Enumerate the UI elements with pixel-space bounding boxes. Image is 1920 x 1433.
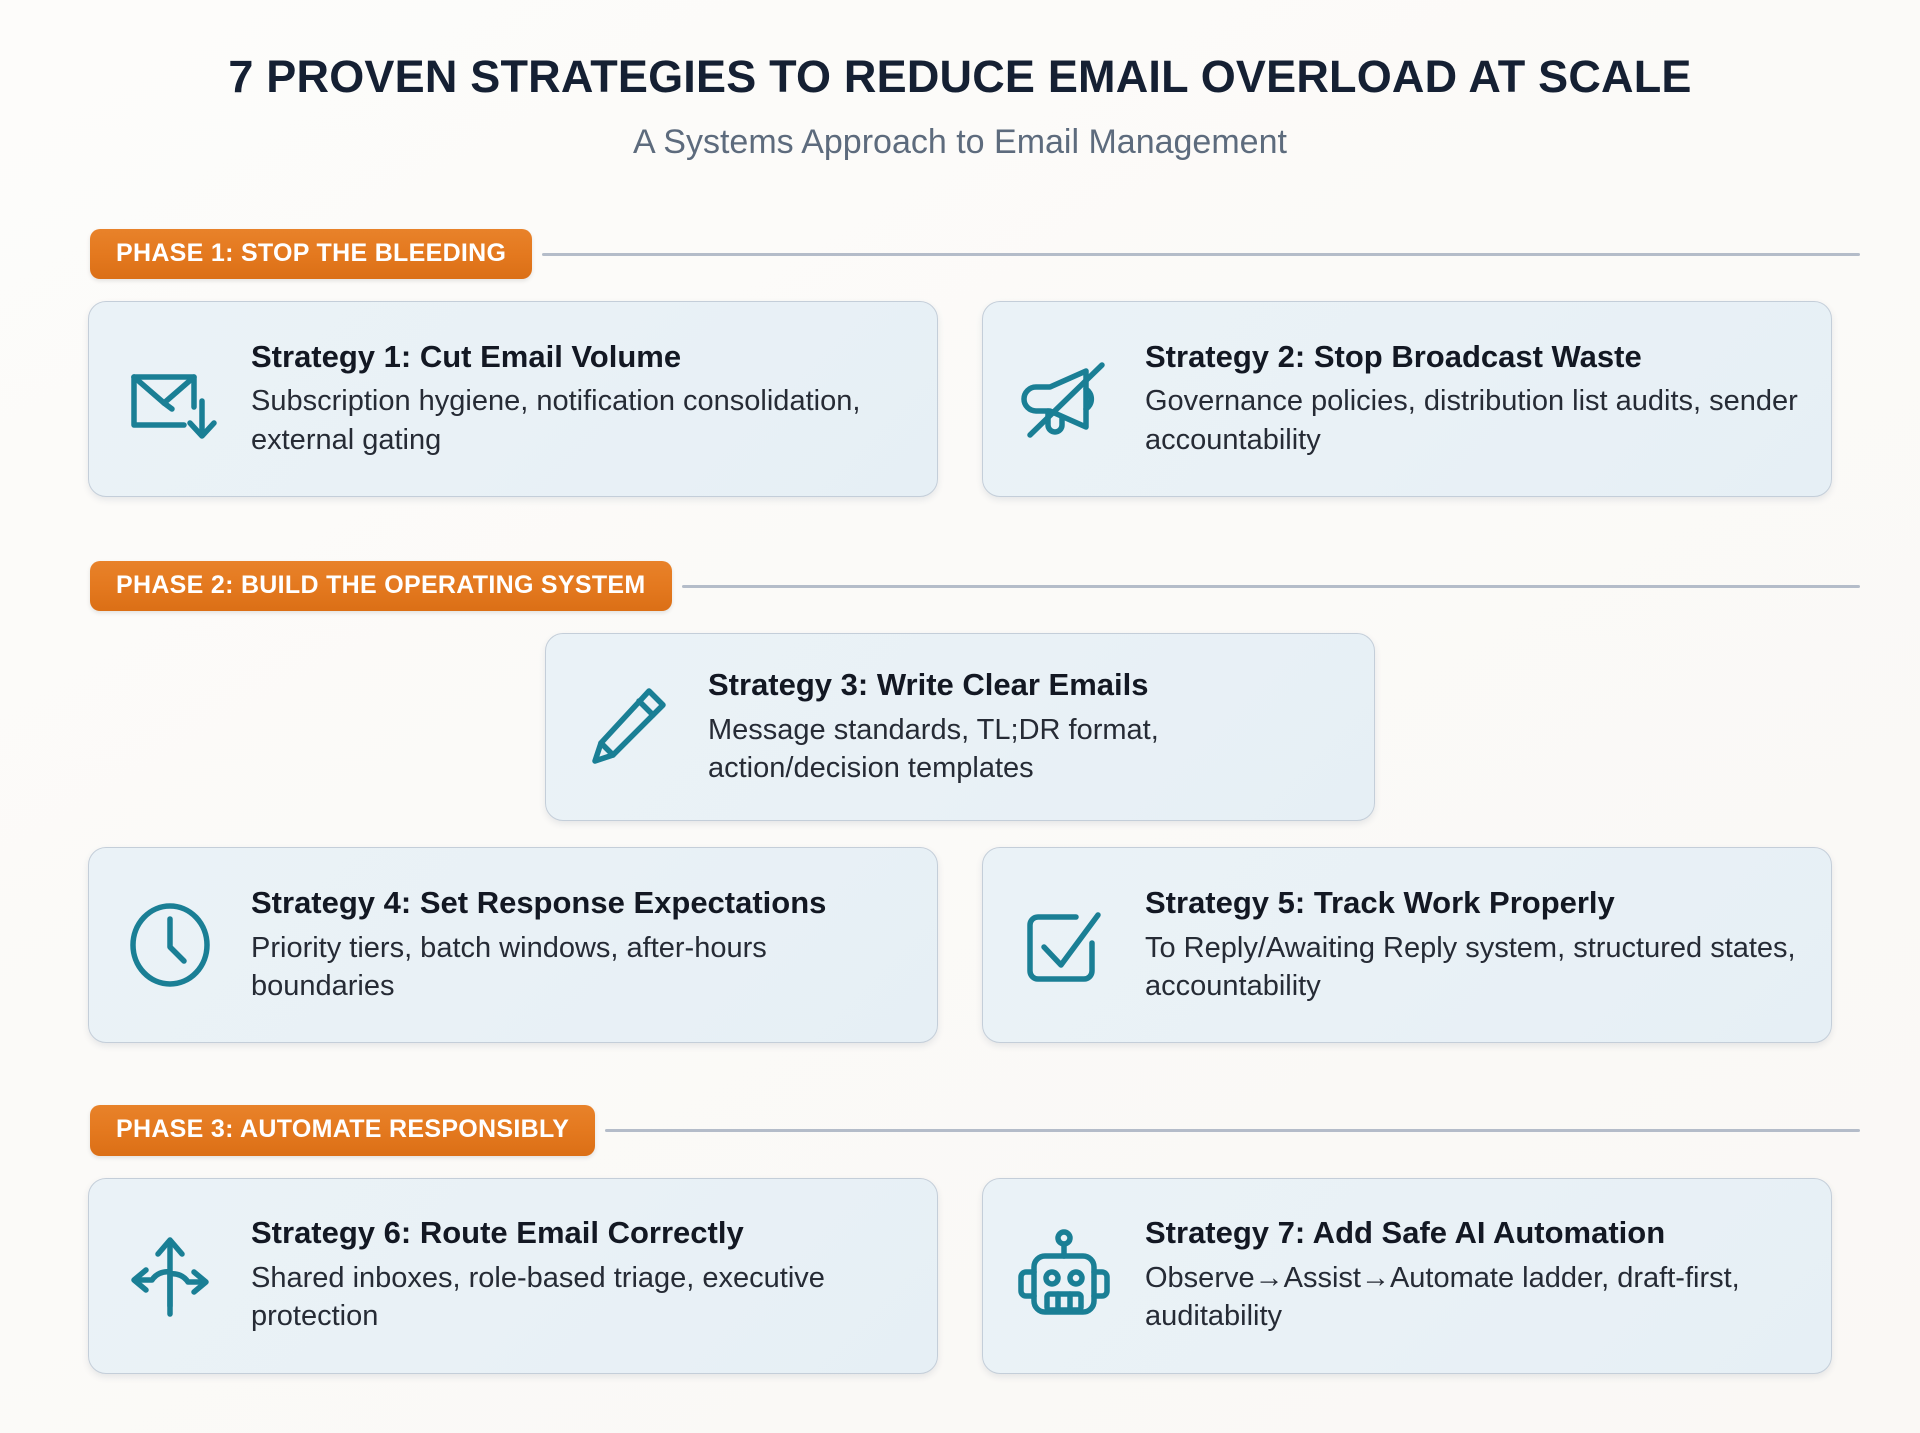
strategy-card-6-body: Strategy 6: Route Email Correctly Shared… (251, 1215, 907, 1336)
strategy-card-7-title: Strategy 7: Add Safe AI Automation (1145, 1215, 1801, 1252)
phase-connector-line-1 (542, 253, 1860, 256)
strategy-card-7-desc: Observe→Assist→Automate ladder, draft-fi… (1145, 1259, 1801, 1336)
strategy-card-1-desc: Subscription hygiene, notification conso… (251, 382, 907, 459)
strategy-card-6-title: Strategy 6: Route Email Correctly (251, 1215, 907, 1252)
phase-badge-1: PHASE 1: STOP THE BLEEDING (90, 229, 532, 279)
phase-1-cards: Strategy 1: Cut Email Volume Subscriptio… (0, 301, 1920, 497)
strategy-card-1[interactable]: Strategy 1: Cut Email Volume Subscriptio… (88, 301, 938, 497)
strategy-card-7-body: Strategy 7: Add Safe AI Automation Obser… (1145, 1215, 1801, 1336)
phase-header-1: PHASE 1: STOP THE BLEEDING (0, 229, 1920, 279)
strategy-card-4-title: Strategy 4: Set Response Expectations (251, 885, 907, 922)
strategy-card-2-desc: Governance policies, distribution list a… (1145, 382, 1801, 459)
strategy-card-2[interactable]: Strategy 2: Stop Broadcast Waste Governa… (982, 301, 1832, 497)
strategy-card-3-desc: Message standards, TL;DR format, action/… (708, 711, 1344, 788)
strategy-card-7[interactable]: Strategy 7: Add Safe AI Automation Obser… (982, 1178, 1832, 1374)
strategy-card-5-desc: To Reply/Awaiting Reply system, structur… (1145, 929, 1801, 1006)
robot-icon (1009, 1221, 1119, 1331)
pencil-icon (572, 672, 682, 782)
strategy-card-6[interactable]: Strategy 6: Route Email Correctly Shared… (88, 1178, 938, 1374)
strategy-card-4-desc: Priority tiers, batch windows, after-hou… (251, 929, 907, 1006)
megaphone-muted-icon (1009, 344, 1119, 454)
strategy-card-3-title: Strategy 3: Write Clear Emails (708, 667, 1344, 704)
strategy-card-5-body: Strategy 5: Track Work Properly To Reply… (1145, 885, 1801, 1006)
strategy-card-4[interactable]: Strategy 4: Set Response Expectations Pr… (88, 847, 938, 1043)
clock-icon (115, 890, 225, 1000)
strategy-card-3-body: Strategy 3: Write Clear Emails Message s… (708, 667, 1344, 788)
page-subtitle: A Systems Approach to Email Management (0, 124, 1920, 161)
strategy-card-3[interactable]: Strategy 3: Write Clear Emails Message s… (545, 633, 1375, 821)
phase-2-cards-top: Strategy 3: Write Clear Emails Message s… (0, 633, 1920, 821)
infographic-root: 7 PROVEN STRATEGIES TO REDUCE EMAIL OVER… (0, 0, 1920, 1433)
strategy-card-5[interactable]: Strategy 5: Track Work Properly To Reply… (982, 847, 1832, 1043)
strategy-card-1-title: Strategy 1: Cut Email Volume (251, 339, 907, 376)
header: 7 PROVEN STRATEGIES TO REDUCE EMAIL OVER… (0, 0, 1920, 161)
phase-header-3: PHASE 3: AUTOMATE RESPONSIBLY (0, 1105, 1920, 1155)
phase-badge-3: PHASE 3: AUTOMATE RESPONSIBLY (90, 1105, 595, 1155)
strategy-card-5-title: Strategy 5: Track Work Properly (1145, 885, 1801, 922)
envelope-down-arrow-icon (115, 344, 225, 454)
checkbox-check-icon (1009, 890, 1119, 1000)
strategy-card-6-desc: Shared inboxes, role-based triage, execu… (251, 1259, 907, 1336)
strategy-card-1-body: Strategy 1: Cut Email Volume Subscriptio… (251, 339, 907, 460)
phase-badge-2: PHASE 2: BUILD THE OPERATING SYSTEM (90, 561, 672, 611)
page-title: 7 PROVEN STRATEGIES TO REDUCE EMAIL OVER… (0, 52, 1920, 102)
strategy-card-2-title: Strategy 2: Stop Broadcast Waste (1145, 339, 1801, 376)
phase-header-2: PHASE 2: BUILD THE OPERATING SYSTEM (0, 561, 1920, 611)
phase-connector-line-3 (605, 1129, 1860, 1132)
route-arrows-icon (115, 1221, 225, 1331)
strategy-card-4-body: Strategy 4: Set Response Expectations Pr… (251, 885, 907, 1006)
phase-connector-line-2 (682, 585, 1860, 588)
phase-2-cards-bottom: Strategy 4: Set Response Expectations Pr… (0, 847, 1920, 1043)
phase-3-cards: Strategy 6: Route Email Correctly Shared… (0, 1178, 1920, 1374)
strategy-card-2-body: Strategy 2: Stop Broadcast Waste Governa… (1145, 339, 1801, 460)
